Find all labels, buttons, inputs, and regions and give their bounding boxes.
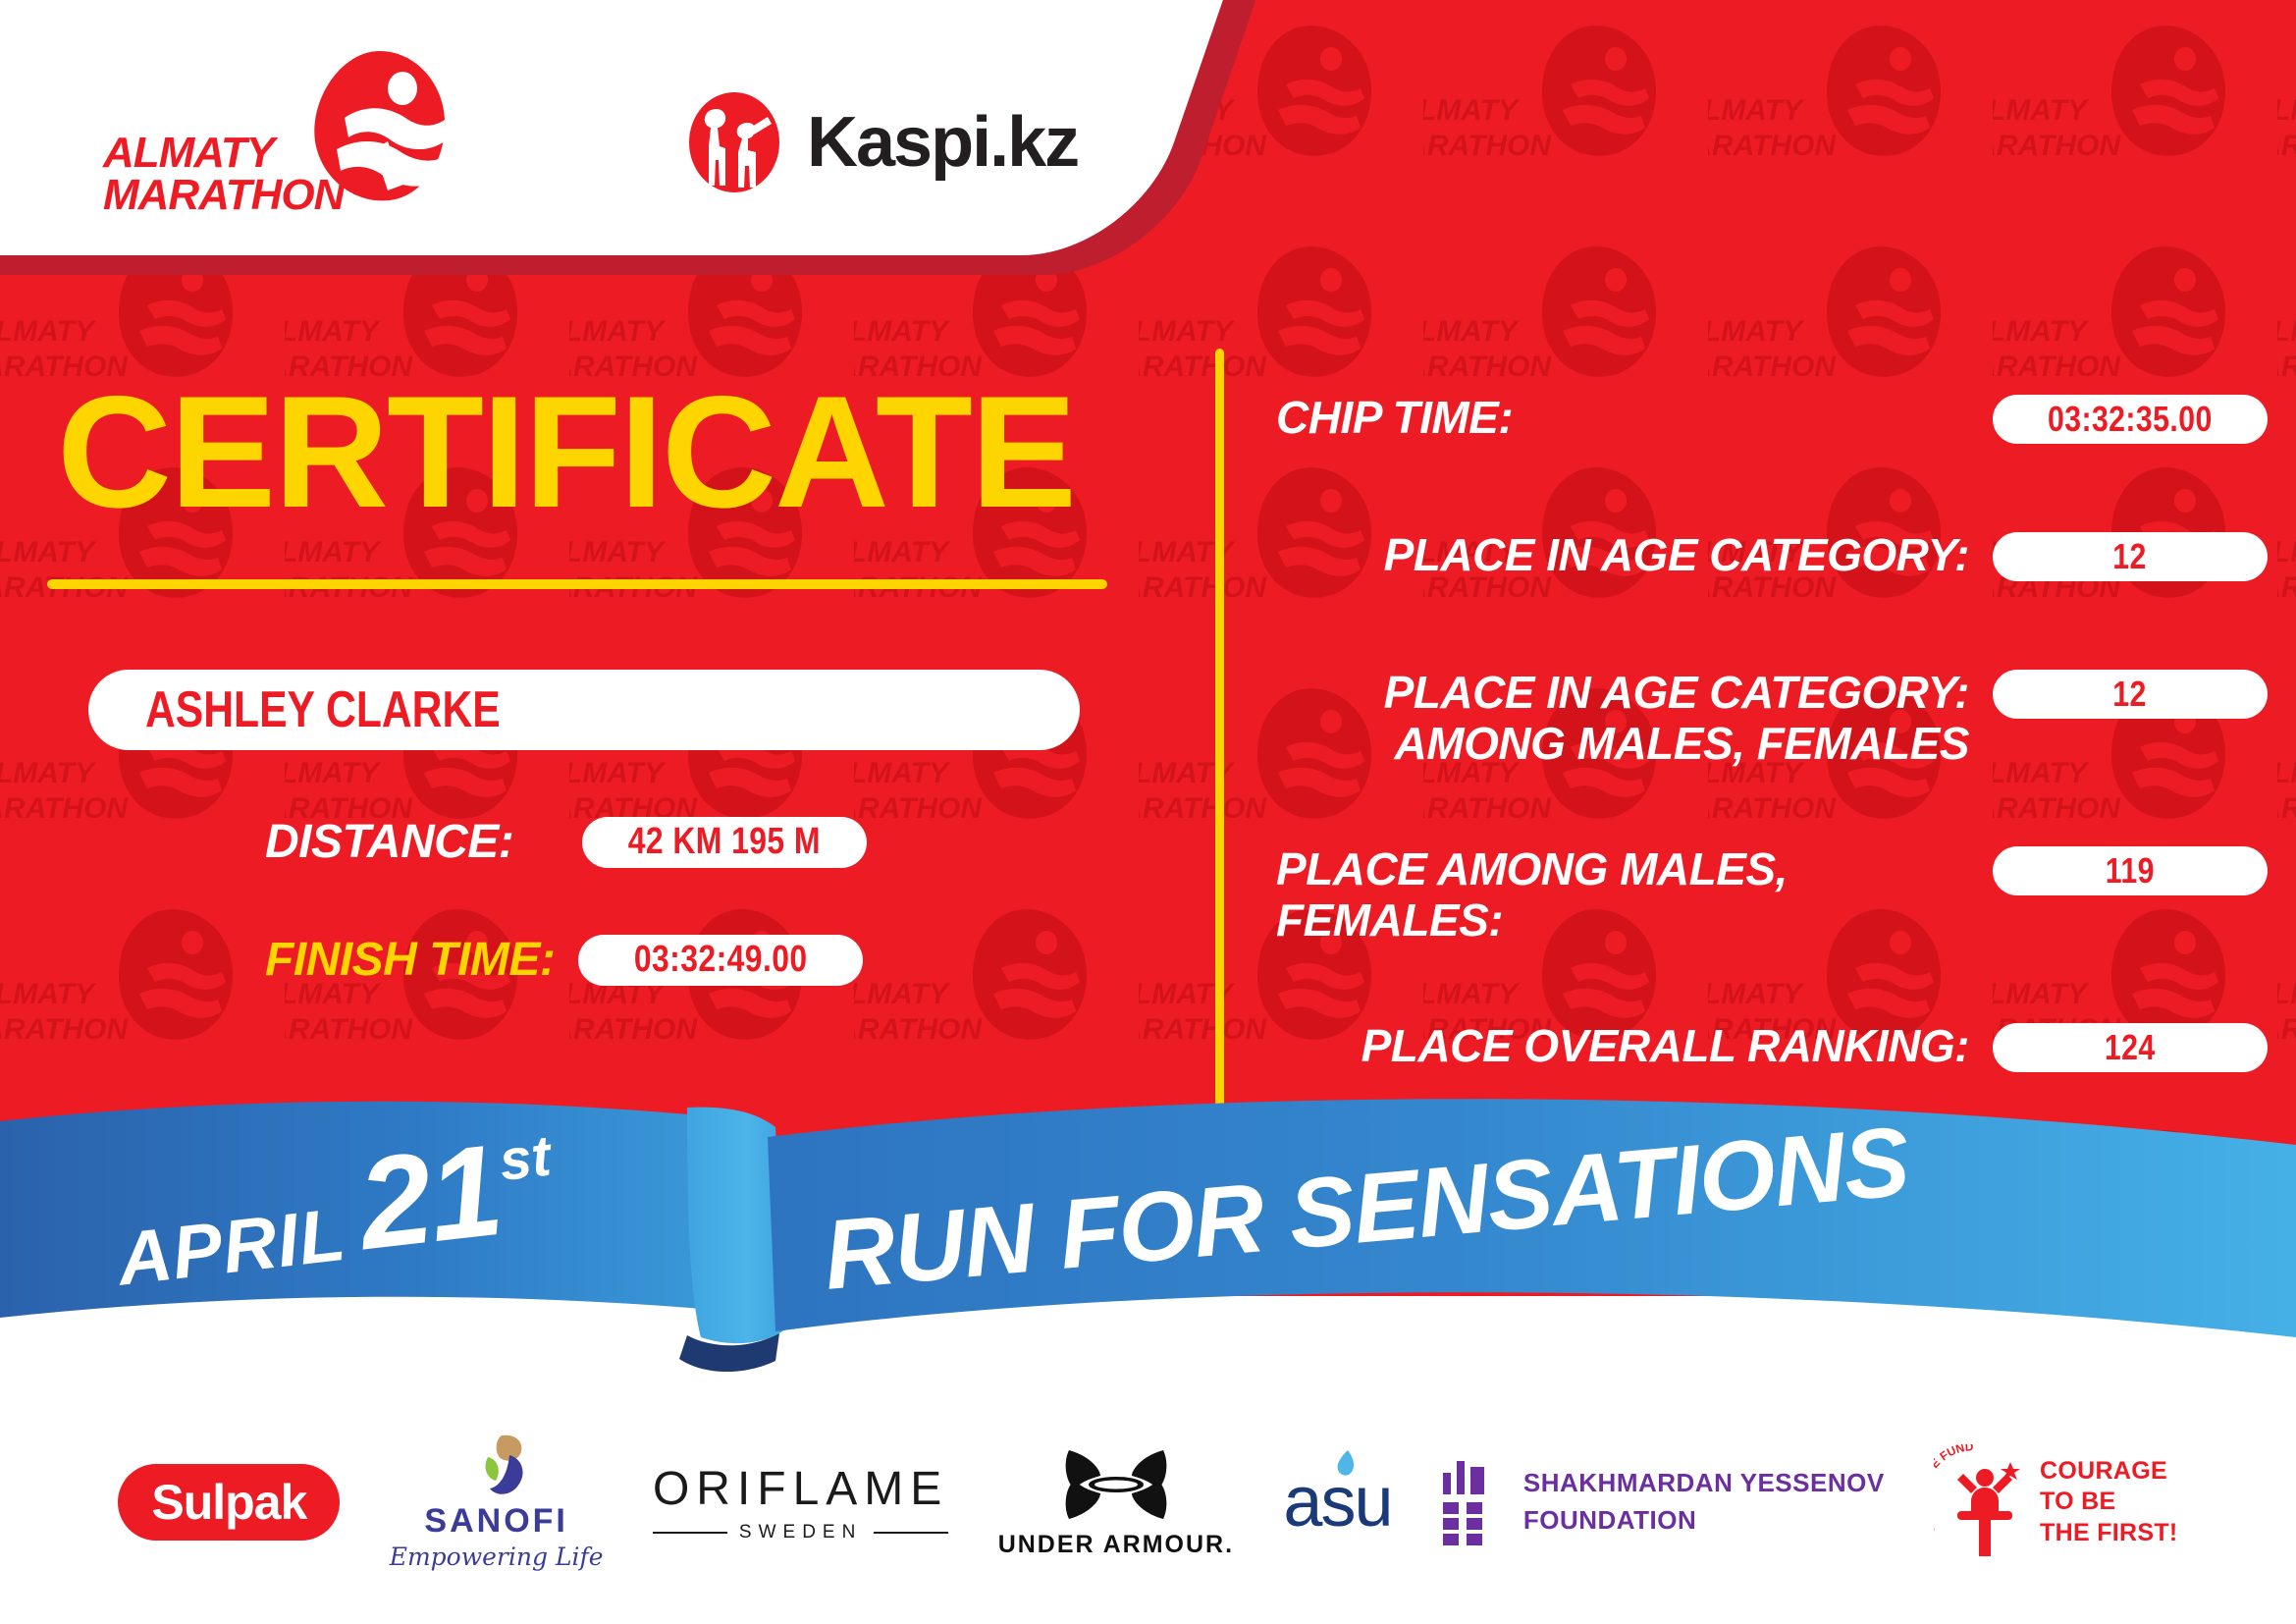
sponsor-sulpak: Sulpak <box>118 1434 340 1571</box>
sanofi-tagline: Empowering Life <box>390 1543 604 1571</box>
place-age-category-gender-value-field: 12 <box>1993 670 2268 719</box>
yessenov-line-2: FOUNDATION <box>1523 1502 1885 1540</box>
certificate-card: ALMATY MARATHON ALMATY MARATHON <box>0 0 2296 1624</box>
stat-row-finish-time: FINISH TIME: 03:32:49.00 <box>265 933 863 987</box>
finish-time-value-field: 03:32:49.00 <box>578 935 863 986</box>
title-underline <box>47 579 1107 589</box>
sponsor-oriflame: ORIFLAME SWEDEN <box>653 1434 948 1571</box>
participant-name-field: ASHLEY CLARKE <box>88 670 1080 750</box>
distance-value-field: 42 KM 195 M <box>582 817 867 868</box>
yessenov-bars-icon <box>1441 1459 1502 1545</box>
ribbon-month: APRIL <box>113 1192 349 1303</box>
place-among-gender-value-field: 119 <box>1993 846 2268 895</box>
sponsor-sanofi: SANOFI Empowering Life <box>390 1434 604 1571</box>
overall-ranking-value: 124 <box>2105 1027 2156 1068</box>
asu-logo: asu <box>1283 1462 1391 1543</box>
courage-line-1: COURAGE <box>2040 1456 2178 1487</box>
event-ribbon: APRIL 21 st RUN FOR SENSATIONS <box>0 1090 2296 1394</box>
kaspi-family-circle-icon <box>687 91 781 194</box>
place-age-category-gender-label: PLACE IN AGE CATEGORY: AMONG MALES, FEMA… <box>1276 668 1969 769</box>
sponsor-under-armour: UNDER ARMOUR. <box>998 1434 1234 1571</box>
oriflame-subline: SWEDEN <box>653 1522 948 1543</box>
courage-line-2: TO BE <box>2040 1487 2178 1517</box>
kaspi-wordmark: Kaspi.kz <box>807 107 1078 178</box>
place-among-gender-label: PLACE AMONG MALES, FEMALES: <box>1276 844 1969 946</box>
oriflame-rule-left <box>653 1532 727 1534</box>
finish-time-value: 03:32:49.00 <box>634 939 808 981</box>
label-line-2: AMONG MALES, FEMALES <box>1276 719 1969 770</box>
place-age-category-gender-value: 12 <box>2113 674 2147 715</box>
sponsor-yessenov-foundation: SHAKHMARDAN YESSENOV FOUNDATION <box>1441 1434 1885 1571</box>
almaty-marathon-logo: ALMATY MARATHON <box>103 47 447 224</box>
sanofi-leaf-icon <box>458 1434 535 1500</box>
chip-time-value-field: 03:32:35.00 <box>1993 395 2268 444</box>
finish-time-label: FINISH TIME: <box>265 933 555 987</box>
distance-value: 42 KM 195 M <box>628 821 821 863</box>
courage-line-3: THE FIRST! <box>2040 1518 2178 1548</box>
logo-line-2: MARATHON <box>103 174 344 216</box>
chip-time-label: CHIP TIME: <box>1276 393 1969 444</box>
overall-ranking-label: PLACE OVERALL RANKING: <box>1276 1021 1969 1072</box>
courage-wordmark: COURAGE TO BE THE FIRST! <box>2040 1456 2178 1548</box>
sulpak-logo: Sulpak <box>118 1464 340 1541</box>
place-age-category-value-field: 12 <box>1993 532 2268 581</box>
participant-name: ASHLEY CLARKE <box>145 680 501 739</box>
logo-line-1: ALMATY <box>103 132 344 174</box>
result-row-place-age-category-gender: PLACE IN AGE CATEGORY: AMONG MALES, FEMA… <box>1276 668 2268 769</box>
result-row-place-age-category: PLACE IN AGE CATEGORY: 12 <box>1276 530 2268 581</box>
place-age-category-label: PLACE IN AGE CATEGORY: <box>1276 530 1969 581</box>
certificate-title: CERTIFICATE <box>57 373 1075 532</box>
result-row-chip-time: CHIP TIME: 03:32:35.00 <box>1276 393 2268 444</box>
label-line-1: PLACE IN AGE CATEGORY: <box>1276 668 1969 719</box>
oriflame-rule-right <box>874 1532 948 1534</box>
column-divider <box>1215 349 1224 1110</box>
yessenov-line-1: SHAKHMARDAN YESSENOV <box>1523 1465 1885 1502</box>
under-armour-wordmark: UNDER ARMOUR. <box>998 1531 1234 1559</box>
oriflame-logo: ORIFLAME SWEDEN <box>653 1462 948 1543</box>
chip-time-value: 03:32:35.00 <box>2048 399 2213 440</box>
asu-droplet-icon <box>1336 1448 1358 1482</box>
sponsor-bar: Sulpak SANOFI Empowering Life ORIFLAME S… <box>0 1404 2296 1600</box>
place-age-category-value: 12 <box>2113 536 2147 577</box>
result-row-overall-ranking: PLACE OVERALL RANKING: 124 <box>1276 1021 2268 1072</box>
sponsor-asu: asu <box>1283 1434 1391 1571</box>
stat-row-distance: DISTANCE: 42 KM 195 M <box>265 815 867 869</box>
courage-fund-logo: CORPORATE FUND COURAGE TO BE THE FIRST! <box>1934 1444 2178 1560</box>
result-row-place-among-gender: PLACE AMONG MALES, FEMALES: 119 <box>1276 844 2268 946</box>
sulpak-wordmark: Sulpak <box>151 1474 306 1531</box>
sanofi-wordmark: SANOFI <box>424 1502 567 1541</box>
svg-text:CORPORATE FUND: CORPORATE FUND <box>1934 1444 1974 1537</box>
oriflame-country: SWEDEN <box>739 1522 862 1543</box>
distance-label: DISTANCE: <box>265 815 513 869</box>
under-armour-logo: UNDER ARMOUR. <box>998 1446 1234 1559</box>
kaspi-logo: Kaspi.kz <box>687 83 1080 201</box>
oriflame-wordmark: ORIFLAME <box>653 1462 948 1516</box>
sanofi-logo: SANOFI Empowering Life <box>390 1434 604 1571</box>
ribbon-day: 21 <box>351 1115 507 1278</box>
overall-ranking-value-field: 124 <box>1993 1023 2268 1072</box>
yessenov-wordmark: SHAKHMARDAN YESSENOV FOUNDATION <box>1523 1465 1885 1539</box>
label-line-2: FEMALES: <box>1276 895 1969 947</box>
header: ALMATY MARATHON Kaspi.kz <box>0 0 1178 265</box>
sponsor-courage-fund: CORPORATE FUND COURAGE TO BE THE FIRST! <box>1934 1434 2178 1571</box>
ribbon-ordinal: st <box>496 1123 554 1194</box>
courage-arc-text: CORPORATE FUND <box>1934 1444 1974 1537</box>
place-among-gender-value: 119 <box>2106 850 2155 892</box>
yessenov-logo: SHAKHMARDAN YESSENOV FOUNDATION <box>1441 1459 1885 1545</box>
almaty-marathon-wordmark: ALMATY MARATHON <box>103 132 344 216</box>
courage-figure-icon: CORPORATE FUND <box>1934 1444 2028 1560</box>
label-line-1: PLACE AMONG MALES, <box>1276 844 1969 895</box>
under-armour-icon <box>1057 1446 1175 1523</box>
